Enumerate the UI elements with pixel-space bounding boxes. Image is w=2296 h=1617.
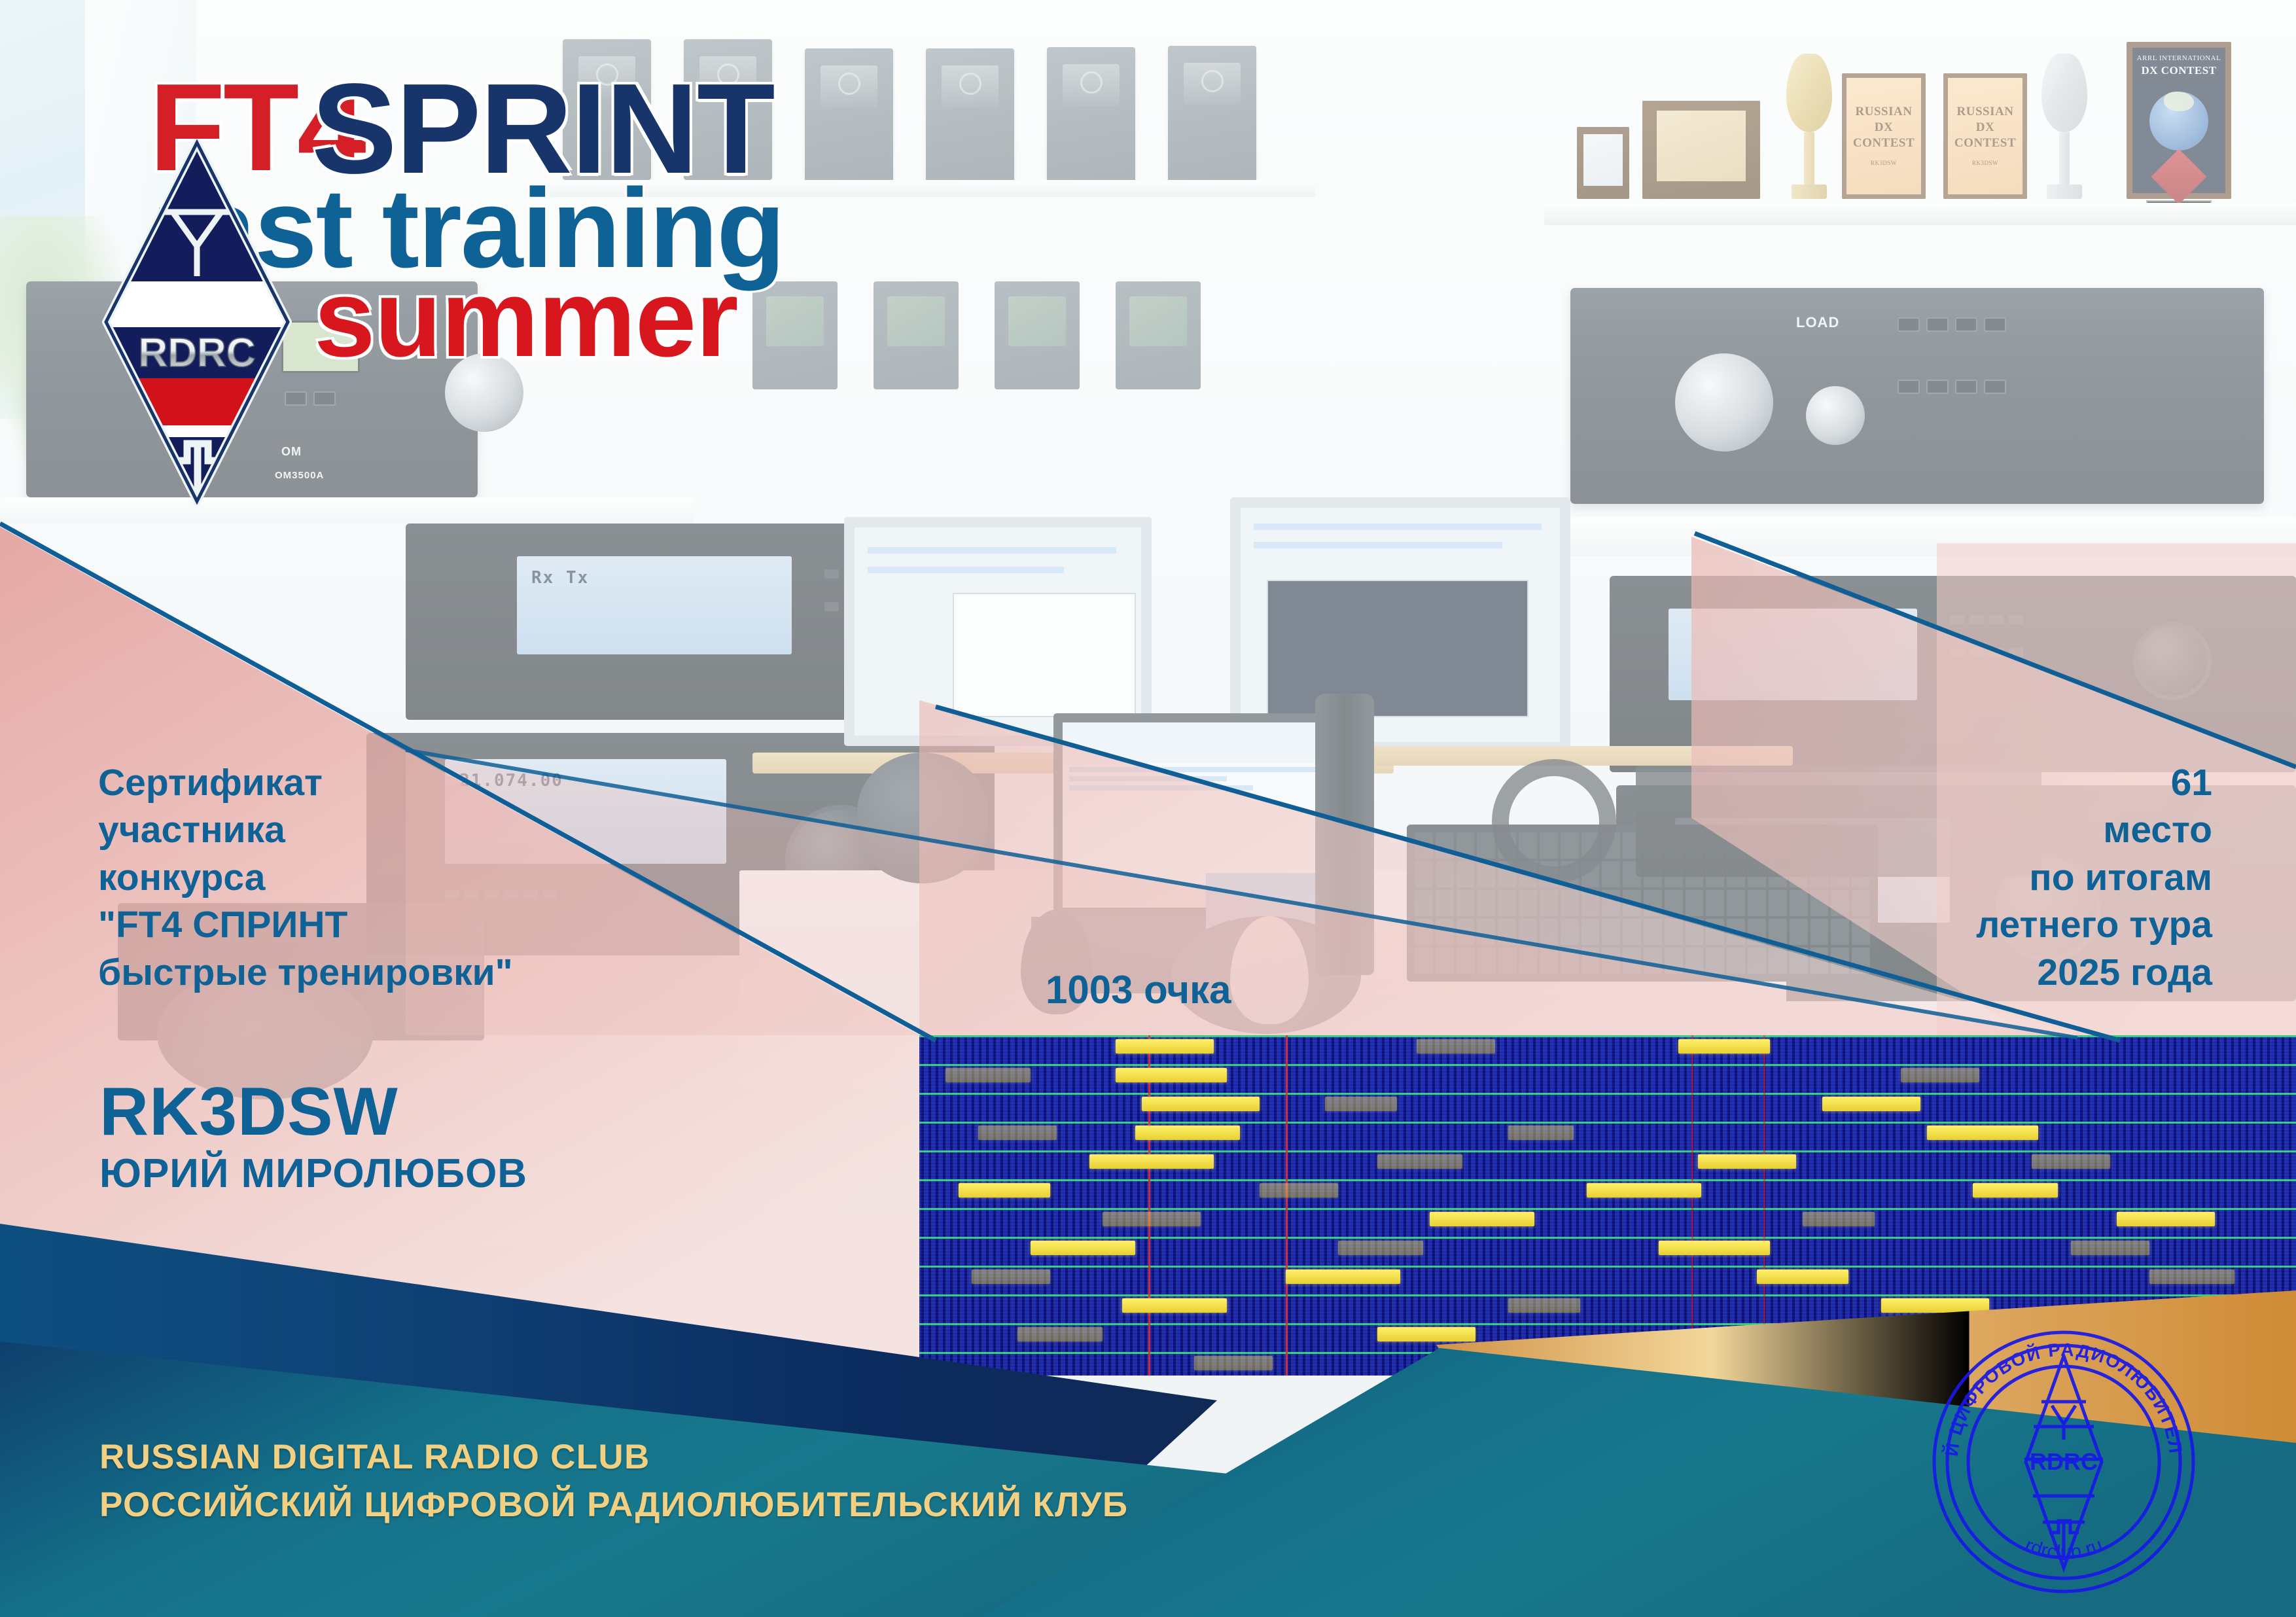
club-name-en: RUSSIAN DIGITAL RADIO CLUB (99, 1433, 1128, 1481)
callsign: RK3DSW (99, 1073, 398, 1151)
place-number: 61 (1976, 759, 2212, 806)
rdrc-logo: RDRC (102, 139, 292, 505)
club-name-block: RUSSIAN DIGITAL RADIO CLUB РОССИЙСКИЙ ЦИ… (99, 1433, 1128, 1529)
score-value: 1003 очка (1046, 967, 1231, 1012)
desc-line-1: Сертификат (98, 759, 513, 806)
desc-line-3: конкурса (98, 854, 513, 901)
desc-line-4: "FT4 СПРИНТ (98, 901, 513, 948)
placement-block: 61 место по итогам летнего тура 2025 год… (1976, 759, 2212, 996)
desc-line-2: участника (98, 806, 513, 853)
stamp-center-text: RDRC (2030, 1448, 2098, 1475)
rdrc-official-stamp: РОССИЙСКИЙ ЦИФРОВОЙ РАДИОЛЮБИТЕЛЬСКИЙ КЛ… (1926, 1324, 2201, 1599)
certificate-description: Сертификат участника конкурса "FT4 СПРИН… (98, 759, 513, 996)
place-line-3: по итогам (1976, 854, 2212, 901)
place-word: место (1976, 806, 2212, 853)
title-summer: summer (314, 255, 738, 382)
rdrc-logo-text: RDRC (138, 330, 255, 376)
club-name-ru: РОССИЙСКИЙ ЦИФРОВОЙ РАДИОЛЮБИТЕЛЬСКИЙ КЛ… (99, 1481, 1128, 1529)
place-line-5: 2025 года (1976, 949, 2212, 996)
certificate-canvas: RUSSIAN DX CONTEST RK3DSW RUSSIAN DX CON… (0, 0, 2296, 1617)
place-line-4: летнего тура (1976, 901, 2212, 948)
operator-name: ЮРИЙ МИРОЛЮБОВ (99, 1150, 527, 1197)
stamp-arc-text: РОССИЙСКИЙ ЦИФРОВОЙ РАДИОЛЮБИТЕЛЬСКИЙ КЛ… (1926, 1324, 2186, 1457)
desc-line-5: быстрые тренировки" (98, 949, 513, 996)
